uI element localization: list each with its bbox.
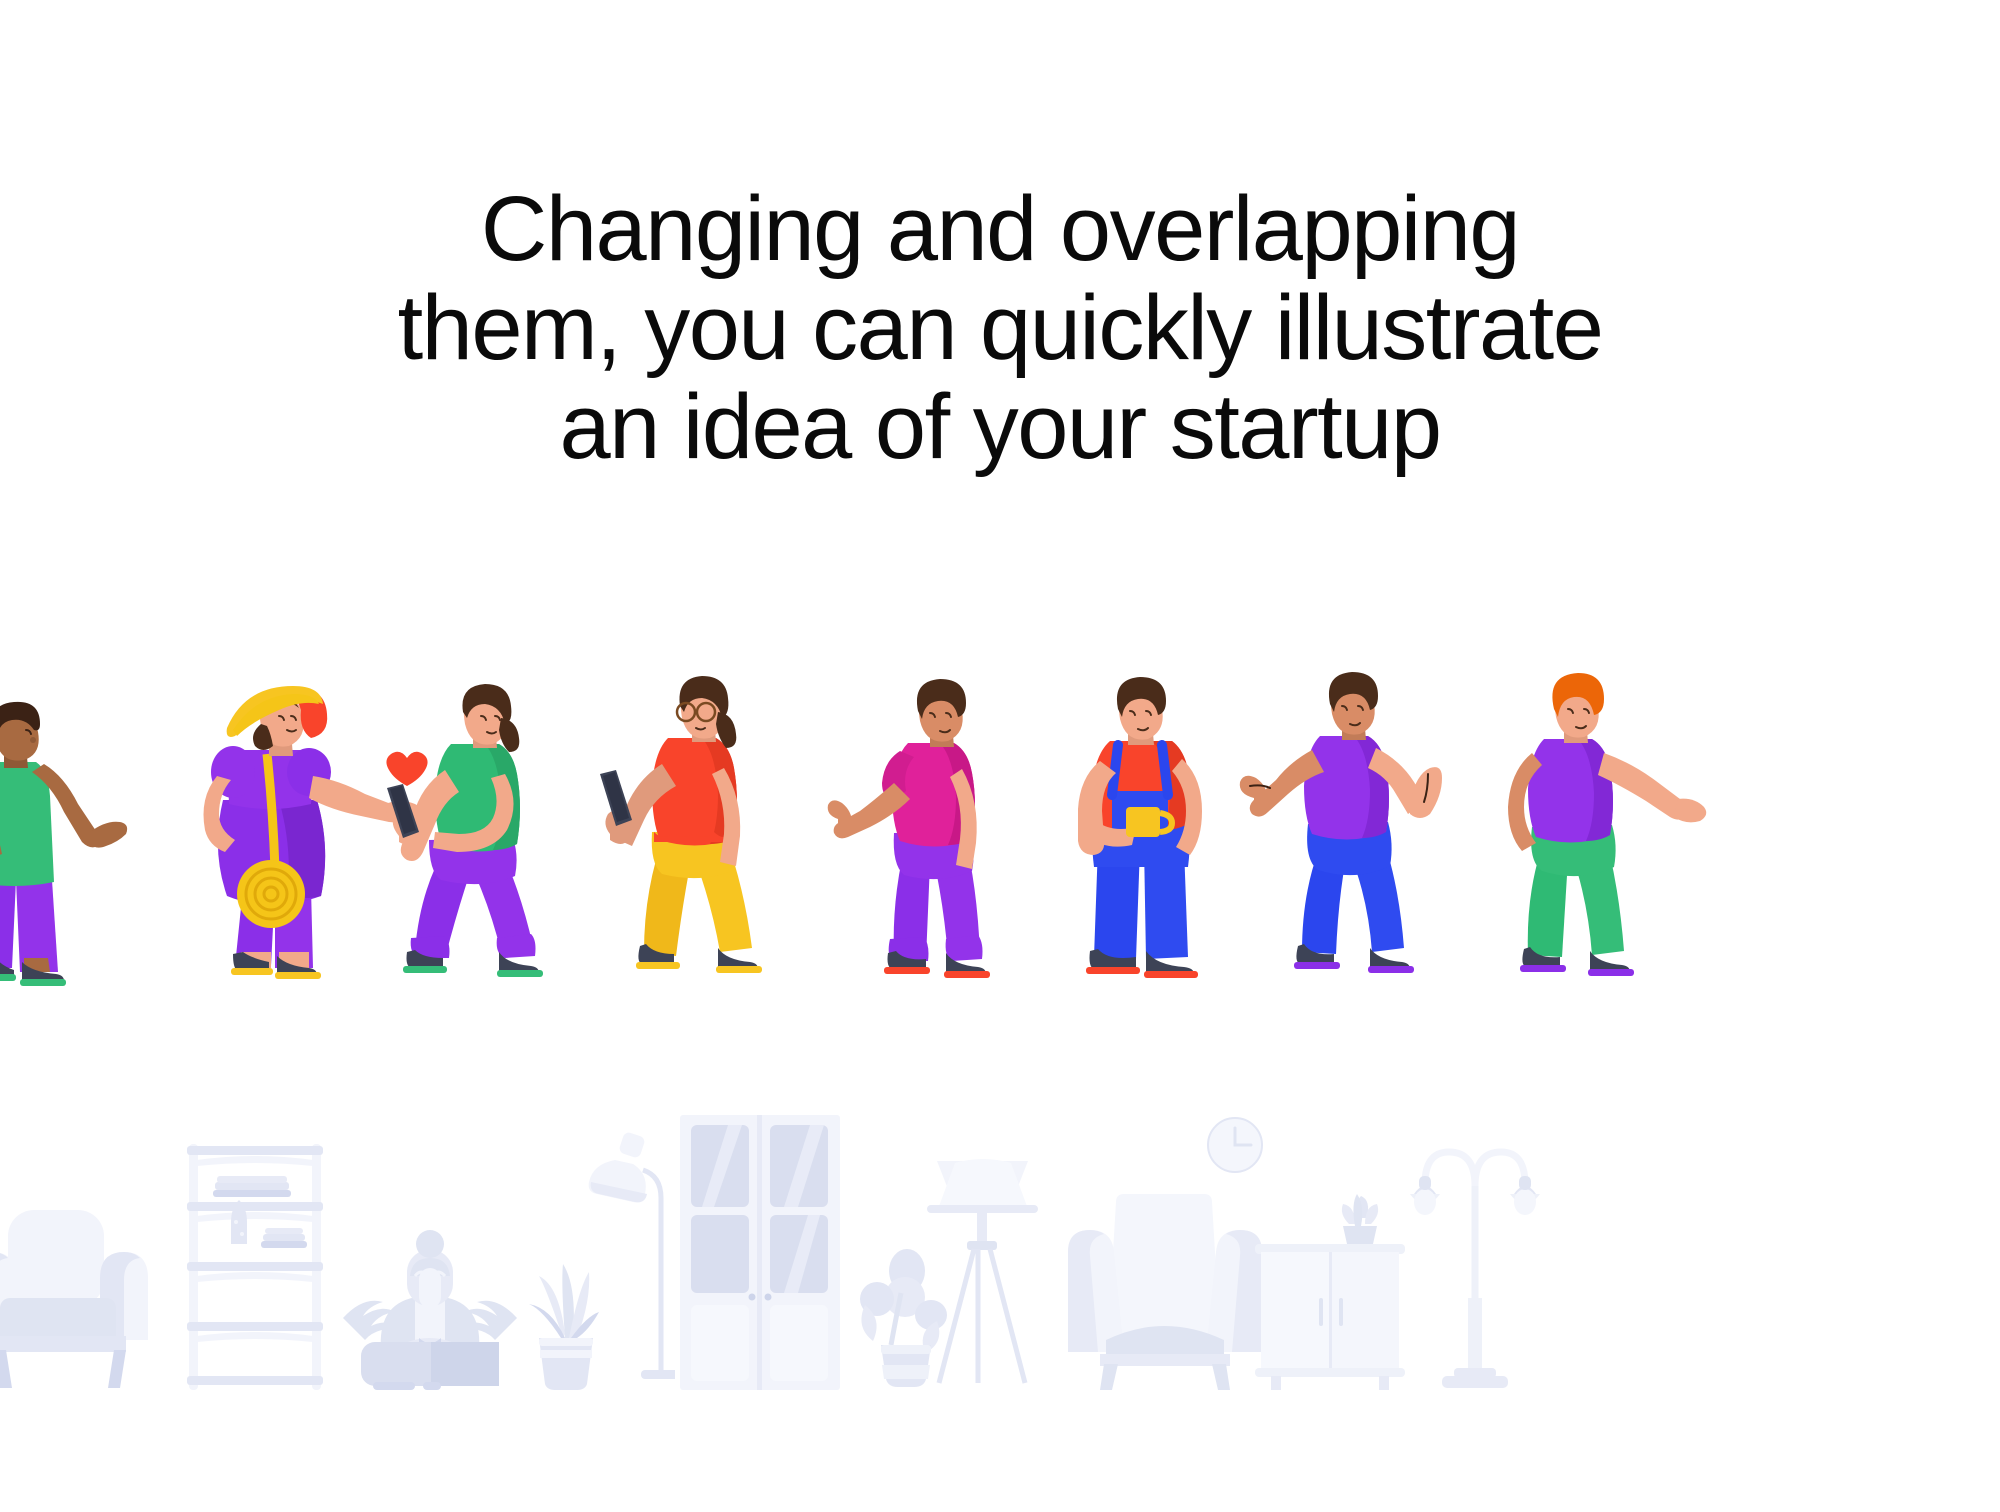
- character-strip: [0, 640, 2000, 1000]
- illustration-canvas: Changing and overlapping them, you can q…: [0, 0, 2000, 1512]
- furniture-cabinet-with-plant: [1255, 1190, 1405, 1390]
- character-woman-glasses-with-phone: [600, 690, 830, 1000]
- furniture-french-doors: [680, 1115, 840, 1390]
- furniture-armchair-rounded: [0, 1190, 160, 1390]
- furniture-wall-clock: [1205, 1115, 1265, 1175]
- character-woman-with-phone-heart: [385, 690, 620, 1000]
- furniture-tripod-floor-lamp: [925, 1155, 1040, 1390]
- page-title: Changing and overlapping them, you can q…: [0, 180, 2000, 478]
- character-person-magenta-shirt-gesturing: [830, 695, 1060, 1000]
- furniture-buddha-statue: [335, 1210, 525, 1390]
- furniture-floor-lamp-arc: [585, 1130, 675, 1390]
- furniture-street-lamp-double: [1410, 1130, 1540, 1390]
- character-woman-pointing-dark-skin: [0, 700, 170, 1000]
- character-man-orange-hair-leaning: [1470, 695, 1720, 1000]
- furniture-strip: [0, 1060, 2000, 1390]
- furniture-bookshelf-four-tier: [185, 1140, 325, 1390]
- furniture-armchair-wingback: [1060, 1190, 1270, 1390]
- character-woman-both-arms-raised: [1240, 690, 1495, 1000]
